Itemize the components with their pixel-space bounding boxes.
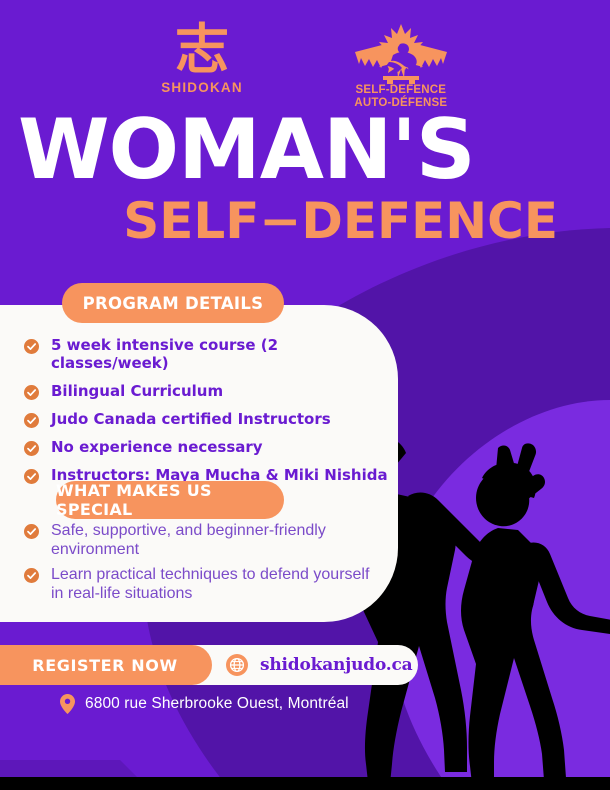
register-now-button[interactable]: REGISTER NOW — [0, 645, 212, 685]
list-item: Judo Canada certified Instructors — [24, 410, 394, 428]
self-defence-logo: SELF-DEFENCE AUTO-DÉFENSE — [353, 22, 449, 109]
website-link[interactable]: shidokanjudo.ca — [260, 655, 413, 675]
check-circle-icon — [24, 441, 39, 456]
list-item: Bilingual Curriculum — [24, 382, 394, 400]
poster-title: WOMAN'S — [18, 108, 475, 191]
program-details-list: 5 week intensive course (2 classes/week)… — [24, 336, 394, 494]
maple-leaf-judo-icon — [353, 22, 449, 84]
map-pin-icon — [60, 694, 75, 714]
address-row: 6800 rue Sherbrooke Ouest, Montréal — [60, 694, 349, 714]
check-circle-icon — [24, 413, 39, 428]
list-item: Safe, supportive, and beginner-friendly … — [24, 521, 379, 559]
poster: 志 SHIDOKAN — [0, 0, 610, 790]
list-item-label: Learn practical techniques to defend you… — [51, 565, 379, 603]
list-item: 5 week intensive course (2 classes/week) — [24, 336, 394, 372]
check-circle-icon — [24, 469, 39, 484]
list-item: No experience necessary — [24, 438, 394, 456]
shidokan-kanji-icon: 志 — [175, 22, 229, 78]
list-item-label: Bilingual Curriculum — [51, 382, 223, 400]
program-details-heading: PROGRAM DETAILS — [62, 283, 284, 323]
cta-bar: REGISTER NOW shidokanjudo.ca — [0, 645, 418, 685]
list-item: Learn practical techniques to defend you… — [24, 565, 379, 603]
shidokan-logo: 志 SHIDOKAN — [161, 22, 243, 95]
check-circle-icon — [24, 339, 39, 354]
poster-subtitle: SELF−DEFENCE — [123, 196, 558, 246]
check-circle-icon — [24, 568, 39, 583]
list-item-label: Safe, supportive, and beginner-friendly … — [51, 521, 379, 559]
special-heading: WHAT MAKES US SPECIAL — [56, 481, 284, 519]
list-item-label: Judo Canada certified Instructors — [51, 410, 331, 428]
list-item-label: 5 week intensive course (2 classes/week) — [51, 336, 394, 372]
list-item-label: No experience necessary — [51, 438, 263, 456]
bottom-bar — [0, 777, 610, 790]
check-circle-icon — [24, 385, 39, 400]
globe-icon — [226, 654, 248, 676]
special-list: Safe, supportive, and beginner-friendly … — [24, 521, 379, 609]
self-defence-wordmark-en: SELF-DEFENCE — [356, 84, 447, 97]
address-text: 6800 rue Sherbrooke Ouest, Montréal — [85, 695, 349, 713]
check-circle-icon — [24, 524, 39, 539]
shidokan-wordmark: SHIDOKAN — [161, 80, 243, 95]
logo-row: 志 SHIDOKAN — [0, 22, 610, 109]
